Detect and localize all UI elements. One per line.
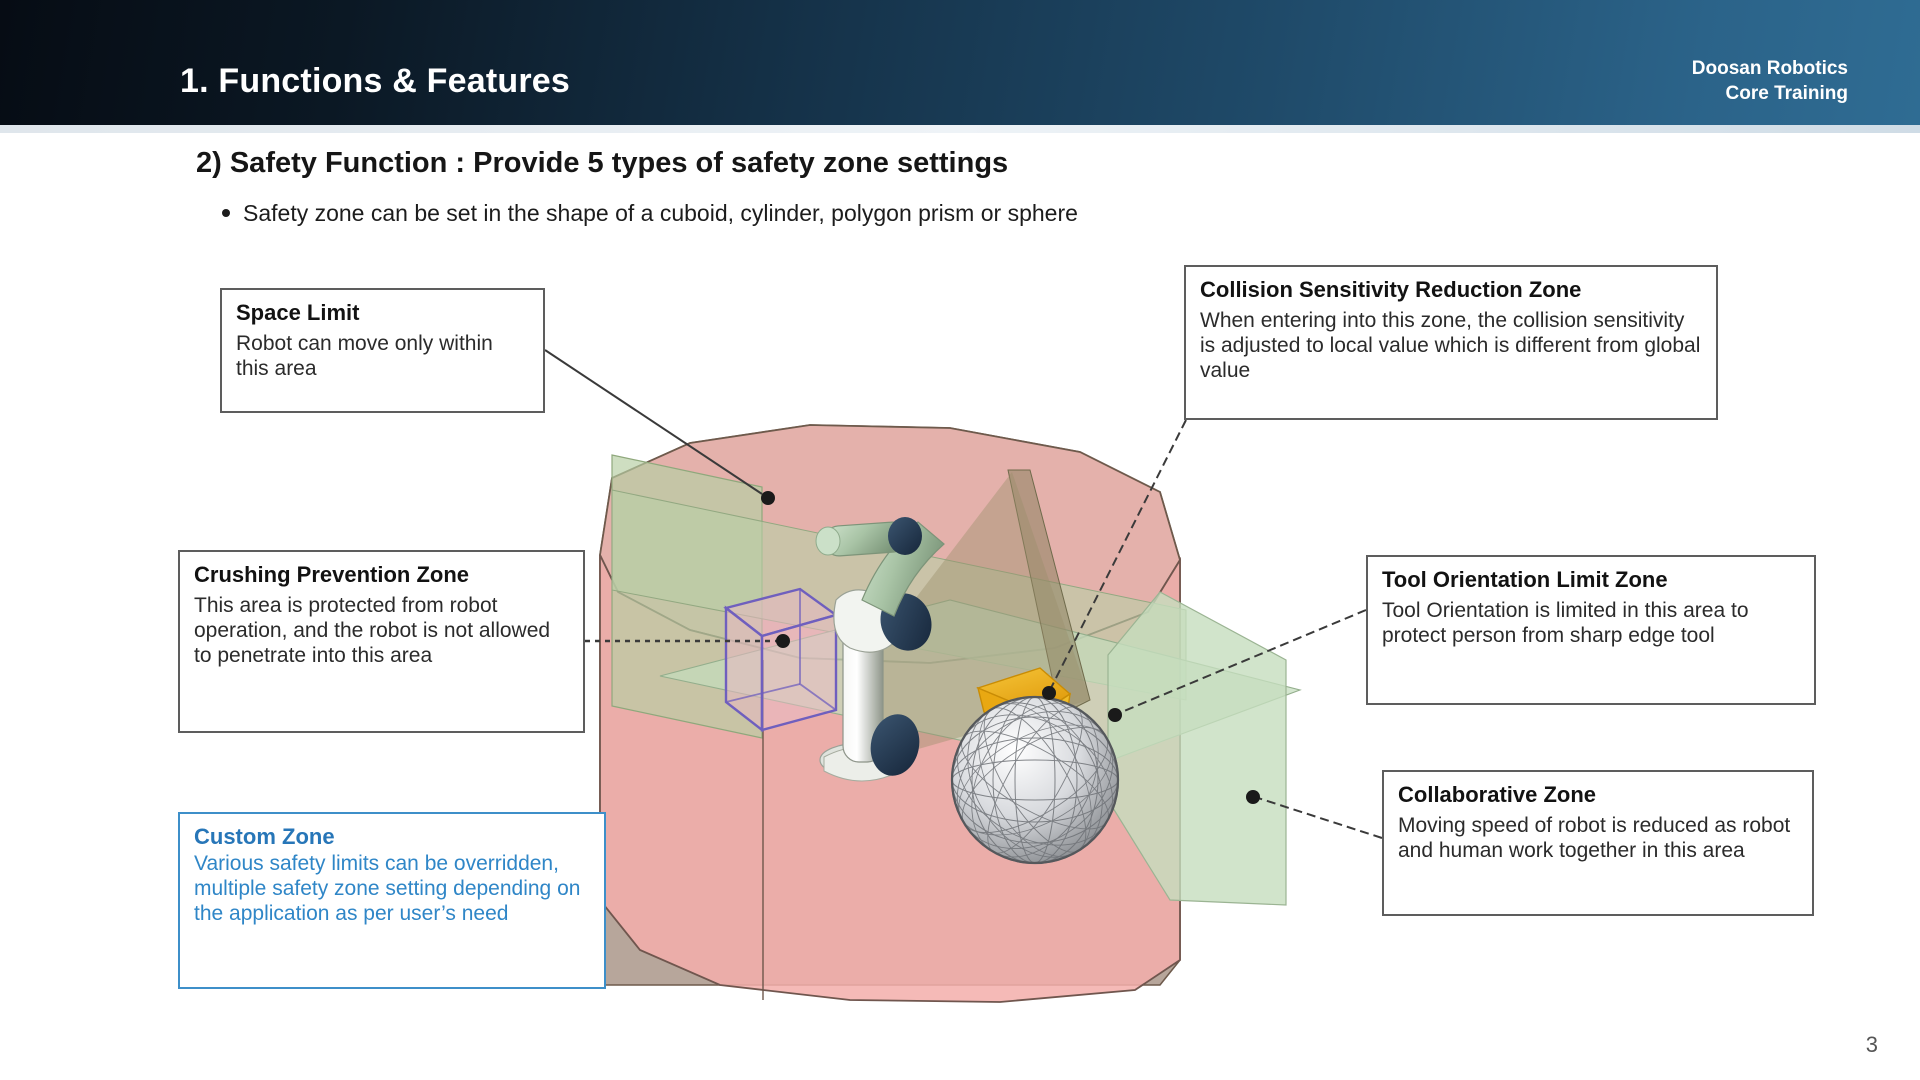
robot-joint-base — [865, 710, 925, 781]
callout-body: When entering into this zone, the collis… — [1200, 308, 1702, 384]
space-limit-prism-back — [600, 425, 1180, 985]
page-number: 3 — [1866, 1032, 1878, 1058]
target-dot-collaborative — [1246, 790, 1260, 804]
leader-line-tool-orientation — [1117, 610, 1366, 714]
brand-lockup: Doosan Robotics Core Training — [1692, 56, 1848, 107]
robot-link-wrist — [823, 521, 909, 557]
robot-arm — [816, 517, 944, 781]
target-dot-tool-orientation — [1108, 708, 1122, 722]
bullet-item: Safety zone can be set in the shape of a… — [222, 200, 1078, 227]
callout-title: Crushing Prevention Zone — [194, 562, 569, 588]
space-limit-prism-rim — [600, 425, 1180, 663]
leader-line-collaborative — [1255, 797, 1382, 838]
callout-body: Moving speed of robot is reduced as robo… — [1398, 813, 1798, 863]
callout-title: Collaborative Zone — [1398, 782, 1798, 808]
bullet-text: Safety zone can be set in the shape of a… — [243, 200, 1078, 226]
callout-space-limit: Space Limit Robot can move only within t… — [220, 288, 545, 413]
header-underline — [0, 125, 1920, 133]
callout-body: Tool Orientation is limited in this area… — [1382, 598, 1800, 648]
collaborative-zone-outer-plane — [1108, 592, 1286, 905]
robot-link-lower — [843, 620, 883, 762]
robot-joint-elbow — [873, 586, 940, 658]
robot-base — [820, 743, 904, 777]
safety-plane-diagonal — [612, 490, 1186, 700]
safety-plane-interior-fin — [880, 470, 1090, 760]
sphere-safety-zone — [921, 666, 1150, 895]
callout-title: Tool Orientation Limit Zone — [1382, 567, 1800, 593]
callout-title: Collision Sensitivity Reduction Zone — [1200, 277, 1702, 303]
brand-line-company: Doosan Robotics — [1692, 56, 1848, 81]
leader-line-space-limit — [545, 350, 762, 494]
section-heading: 2) Safety Function : Provide 5 types of … — [196, 147, 1008, 180]
space-limit-prism-front — [600, 555, 1180, 1002]
target-dot-space-limit — [761, 491, 775, 505]
callout-crushing-prevention-zone: Crushing Prevention Zone This area is pr… — [178, 550, 585, 733]
target-dot-crushing — [776, 634, 790, 648]
safety-plane-left-vertical — [612, 455, 762, 738]
leader-target-dots — [761, 491, 1260, 804]
callout-tool-orientation-limit-zone: Tool Orientation Limit Zone Tool Orienta… — [1366, 555, 1816, 705]
callout-custom-zone: Custom Zone Various safety limits can be… — [178, 812, 606, 989]
target-dot-collision — [1042, 686, 1056, 700]
callout-collaborative-zone: Collaborative Zone Moving speed of robot… — [1382, 770, 1814, 916]
leader-line-collision — [1049, 420, 1186, 692]
callout-body: Various safety limits can be overridden,… — [194, 851, 590, 927]
leader-lines — [545, 350, 1382, 838]
brand-line-program: Core Training — [1692, 81, 1848, 106]
robot-joint-wrist — [888, 517, 922, 555]
bullet-dot-icon — [222, 209, 230, 217]
callout-title: Custom Zone — [194, 824, 590, 850]
callout-title: Space Limit — [236, 300, 529, 326]
robot-link-upper — [862, 522, 944, 616]
collaborative-zone-plane — [660, 600, 1300, 768]
callout-collision-sensitivity-reduction-zone: Collision Sensitivity Reduction Zone Whe… — [1184, 265, 1718, 420]
crushing-prevention-cube — [726, 589, 836, 730]
callout-body: This area is protected from robot operat… — [194, 593, 569, 669]
page-title: 1. Functions & Features — [180, 62, 570, 101]
callout-body: Robot can move only within this area — [236, 331, 529, 381]
tool-orientation-wedge — [978, 668, 1070, 738]
